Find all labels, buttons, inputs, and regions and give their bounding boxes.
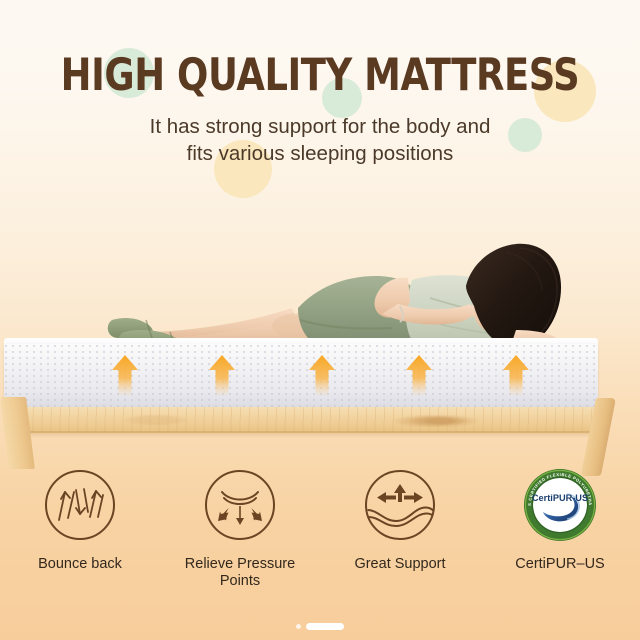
pagination-dot-active[interactable] bbox=[306, 623, 344, 630]
feature-list: Bounce back bbox=[0, 468, 640, 598]
page-title: HIGH QUALITY MATTRESS bbox=[32, 53, 608, 97]
bounce-back-icon bbox=[43, 468, 117, 542]
certipur-us-badge: CUSHIONS CERTIFIED FLEXIBLE POLYURETHANE… bbox=[523, 468, 597, 542]
pagination-dot[interactable] bbox=[296, 624, 301, 629]
support-arrow-3 bbox=[309, 355, 335, 397]
mattress-scene bbox=[0, 180, 640, 480]
subtitle-line-1: It has strong support for the body and bbox=[150, 115, 491, 138]
subtitle-line-2: fits various sleeping positions bbox=[0, 141, 640, 168]
feature-great-support[interactable]: Great Support bbox=[320, 468, 480, 598]
feature-certipur-us[interactable]: CUSHIONS CERTIFIED FLEXIBLE POLYURETHANE… bbox=[480, 468, 640, 598]
support-arrow-2 bbox=[209, 355, 235, 397]
feature-relieve-pressure-points[interactable]: Relieve Pressure Points bbox=[160, 468, 320, 598]
support-arrow-1 bbox=[112, 355, 138, 397]
feature-bounce-back[interactable]: Bounce back bbox=[0, 468, 160, 598]
great-support-icon bbox=[363, 468, 437, 542]
feature-label: Bounce back bbox=[38, 556, 122, 573]
product-banner: HIGH QUALITY MATTRESS It has strong supp… bbox=[0, 0, 640, 640]
mattress bbox=[4, 344, 598, 407]
bed-frame-rail bbox=[6, 407, 598, 433]
support-arrow-4 bbox=[406, 355, 432, 397]
feature-label: Great Support bbox=[354, 556, 445, 573]
header: HIGH QUALITY MATTRESS It has strong supp… bbox=[0, 0, 640, 167]
feature-label: Relieve Pressure Points bbox=[175, 556, 305, 590]
relieve-pressure-icon bbox=[203, 468, 277, 542]
bed-frame-shadow bbox=[6, 431, 598, 438]
certipur-tm-mark: ™ bbox=[586, 494, 589, 498]
person-lying-illustration bbox=[0, 180, 640, 360]
pagination[interactable] bbox=[0, 623, 640, 630]
support-arrow-5 bbox=[503, 355, 529, 397]
feature-label: CertiPUR–US bbox=[515, 556, 604, 573]
page-subtitle: It has strong support for the body and f… bbox=[0, 114, 640, 167]
certipur-center-text: CertiPUR-US bbox=[532, 493, 588, 503]
